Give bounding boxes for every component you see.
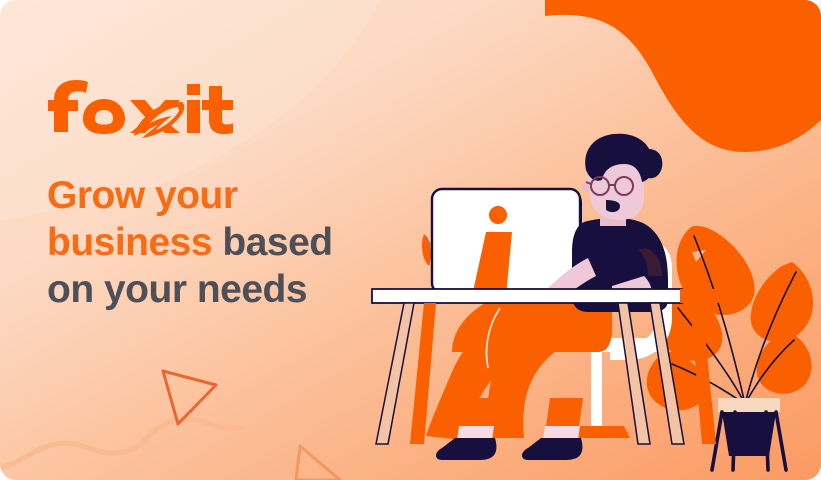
headline-line-1: Grow your: [47, 172, 377, 219]
desk-orange-extension: [680, 289, 740, 303]
plant-pot-rim: [718, 398, 780, 412]
headline-line-2-rest: based: [212, 221, 333, 264]
desk-leg-left-a: [376, 303, 414, 444]
desk-leaf-2: [422, 234, 431, 266]
person-sock-back: [457, 426, 494, 440]
page-title: Grow your business based on your needs: [47, 172, 377, 313]
chair-post: [591, 352, 602, 430]
headline-accent-word: business: [47, 221, 212, 264]
desk-leg-right-a: [618, 303, 650, 444]
desk-top: [372, 289, 682, 303]
person-shoe-back: [436, 438, 496, 460]
foxit-logo[interactable]: [46, 78, 246, 138]
screen-graphic-dot: [489, 206, 507, 224]
headline-line-2: business based: [47, 219, 377, 266]
person-sock-front: [543, 426, 580, 440]
promo-banner: Grow your business based on your needs: [0, 0, 821, 480]
headline-line-3: on your needs: [47, 266, 377, 313]
person-shoe-front: [522, 438, 582, 460]
